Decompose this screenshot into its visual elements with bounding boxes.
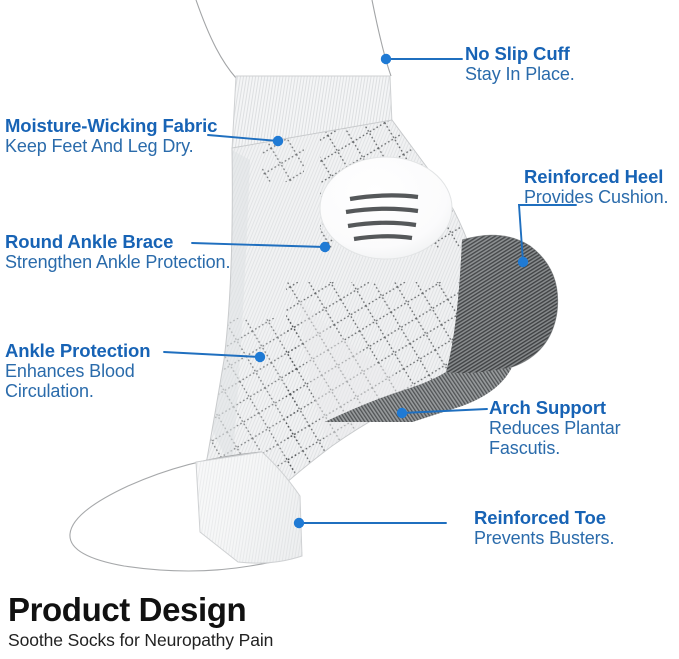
callout-subtitle-moisture-wicking-fabric: Keep Feet And Leg Dry. xyxy=(5,136,217,157)
callout-title-reinforced-toe: Reinforced Toe xyxy=(474,508,614,528)
callout-subtitle-ankle-protection-line2: Circulation. xyxy=(5,381,150,402)
callout-title-arch-support: Arch Support xyxy=(489,398,621,418)
callout-title-round-ankle-brace: Round Ankle Brace xyxy=(5,232,230,252)
page-title: Product Design xyxy=(8,593,273,626)
leg-outline-lines xyxy=(196,0,391,78)
callout-subtitle-arch-support-line2: Fascutis. xyxy=(489,438,621,459)
callout-reinforced-toe: Reinforced Toe Prevents Busters. xyxy=(474,508,614,548)
callout-subtitle-round-ankle-brace: Strengthen Ankle Protection. xyxy=(5,252,230,273)
callout-title-moisture-wicking-fabric: Moisture-Wicking Fabric xyxy=(5,116,217,136)
footer-block: Product Design Soothe Socks for Neuropat… xyxy=(8,593,273,650)
callout-title-reinforced-heel: Reinforced Heel xyxy=(524,167,668,187)
callout-subtitle-reinforced-heel: Provides Cushion. xyxy=(524,187,668,208)
callout-subtitle-reinforced-toe: Prevents Busters. xyxy=(474,528,614,549)
callout-subtitle-ankle-protection-line1: Enhances Blood xyxy=(5,361,150,382)
callout-subtitle-no-slip-cuff: Stay In Place. xyxy=(465,64,575,85)
callout-arch-support: Arch Support Reduces Plantar Fascutis. xyxy=(489,398,621,459)
product-illustration xyxy=(0,0,679,659)
page-subtitle: Soothe Socks for Neuropathy Pain xyxy=(8,630,273,650)
infographic-canvas: No Slip Cuff Stay In Place. Moisture-Wic… xyxy=(0,0,679,659)
callout-no-slip-cuff: No Slip Cuff Stay In Place. xyxy=(465,44,575,84)
callout-moisture-wicking-fabric: Moisture-Wicking Fabric Keep Feet And Le… xyxy=(5,116,217,156)
callout-title-ankle-protection: Ankle Protection xyxy=(5,341,150,361)
round-ankle-brace-patch xyxy=(320,157,452,259)
callout-reinforced-heel: Reinforced Heel Provides Cushion. xyxy=(524,167,668,207)
callout-subtitle-arch-support-line1: Reduces Plantar xyxy=(489,418,621,439)
callout-round-ankle-brace: Round Ankle Brace Strengthen Ankle Prote… xyxy=(5,232,230,272)
callout-title-no-slip-cuff: No Slip Cuff xyxy=(465,44,575,64)
callout-ankle-protection: Ankle Protection Enhances Blood Circulat… xyxy=(5,341,150,402)
